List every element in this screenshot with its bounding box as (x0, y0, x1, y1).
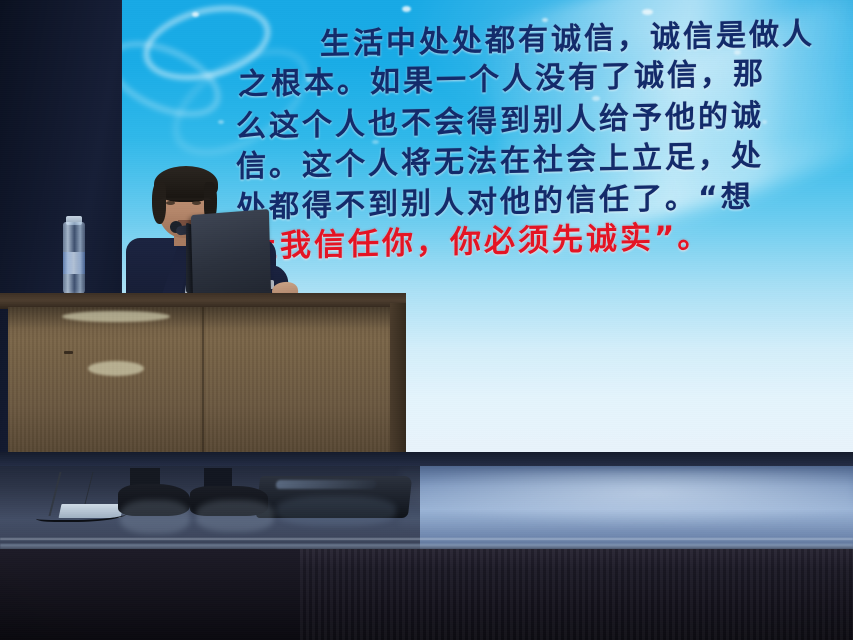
slide-line-2: 之根本。如果一个人没有了诚信，那 (238, 48, 766, 103)
podium-nail-mark (64, 351, 73, 354)
podium-scuff-lower (88, 361, 144, 376)
av-equipment-highlight (276, 480, 377, 489)
stage-apron-shadowed (0, 549, 300, 640)
screen-light-sweep (469, 0, 853, 253)
stage-floor-light-pool (400, 470, 853, 526)
stage-floor-dark-band (0, 452, 853, 466)
water-bottle-label (63, 252, 85, 274)
slide-line-3: 么这个人也不会得到别人给予他的诚 (236, 90, 764, 145)
speaker-eye-right (192, 201, 201, 205)
floor-reflection-left (120, 500, 190, 534)
photograph-scene: 生活中处处都有诚信，诚信是做人 之根本。如果一个人没有了诚信，那 么这个人也不会… (0, 0, 853, 640)
screen-light-sweep-secondary (576, 0, 853, 241)
slide-line-1: 生活中处处都有诚信，诚信是做人 (320, 9, 815, 63)
podium-scuff-upper (62, 311, 170, 322)
floor-reflection-right (276, 496, 396, 526)
floor-reflection-center (196, 500, 274, 532)
floor-seam-line (0, 538, 853, 540)
laptop-computer (191, 209, 271, 301)
floor-cable (36, 506, 128, 522)
speaker-eye-left (166, 201, 175, 205)
